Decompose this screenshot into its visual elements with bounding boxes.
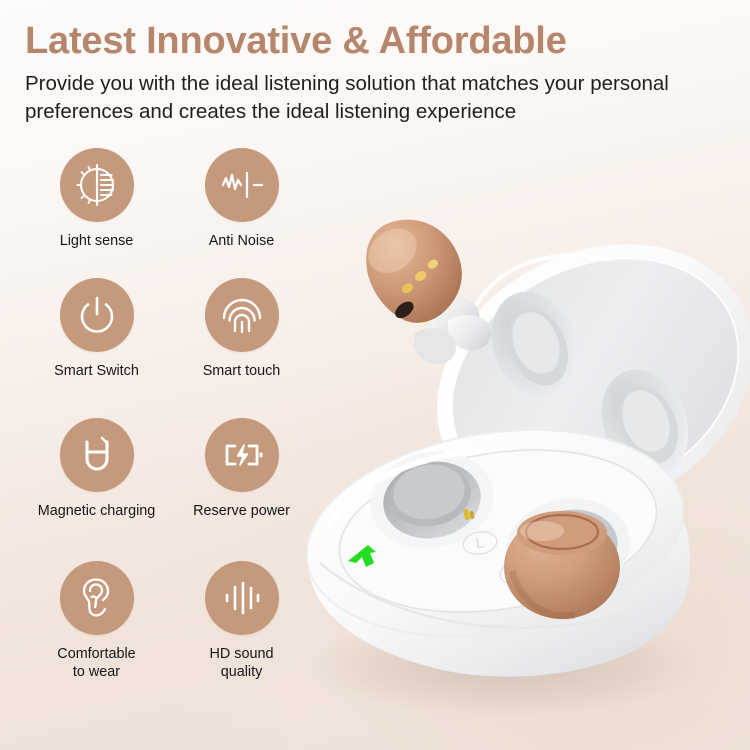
power-switch-icon <box>60 278 134 352</box>
feature-row: Light sense Anti Noise <box>24 148 314 278</box>
feature-label: Smart Switch <box>54 363 139 381</box>
earbud-in-case <box>504 511 620 619</box>
page-title: Latest Innovative & Affordable <box>25 18 732 64</box>
battery-bolt-icon <box>205 418 279 492</box>
feature-label: HD sound quality <box>210 646 274 681</box>
feature-item-smart-switch: Smart Switch <box>24 278 169 418</box>
feature-label: Reserve power <box>193 503 290 521</box>
magnet-icon <box>60 418 134 492</box>
page-subtitle: Provide you with the ideal listening sol… <box>25 70 732 126</box>
feature-label: Comfortable to wear <box>57 646 135 681</box>
light-sense-icon <box>60 148 134 222</box>
anti-noise-icon <box>205 148 279 222</box>
feature-item-comfortable-to-wear: Comfortable to wear <box>24 561 169 701</box>
feature-row: Magnetic charging Reserve power <box>24 418 314 561</box>
feature-label: Magnetic charging <box>38 503 156 521</box>
feature-row: Smart Switch Smart touch <box>24 278 314 418</box>
feature-grid: Light sense Anti Noise <box>24 148 314 701</box>
feature-item-light-sense: Light sense <box>24 148 169 278</box>
fingerprint-touch-icon <box>205 278 279 352</box>
header: Latest Innovative & Affordable Provide y… <box>25 18 732 126</box>
wireless-earbuds-charging-case: L R <box>290 195 750 715</box>
feature-label: Smart touch <box>203 363 281 381</box>
ear-icon <box>60 561 134 635</box>
sound-bars-icon <box>205 561 279 635</box>
product-marketing-banner: Latest Innovative & Affordable Provide y… <box>0 0 750 750</box>
feature-label: Anti Noise <box>209 233 275 251</box>
feature-label: Light sense <box>60 233 134 251</box>
feature-item-magnetic-charging: Magnetic charging <box>24 418 169 561</box>
feature-row: Comfortable to wear HD sound quality <box>24 561 314 701</box>
